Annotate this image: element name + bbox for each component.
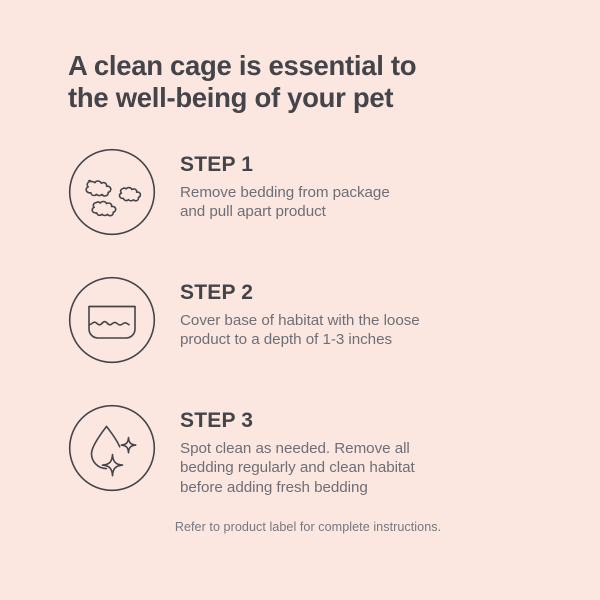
bedding-clouds-icon: [68, 148, 156, 236]
step-item-3: STEP 3 Spot clean as needed. Remove all …: [68, 404, 558, 497]
step-item-1: STEP 1 Remove bedding from package and p…: [68, 148, 558, 236]
step-title-3: STEP 3: [180, 410, 558, 432]
droplet-sparkle-icon: [68, 404, 156, 492]
instruction-poster: A clean cage is essential to the well-be…: [0, 0, 600, 600]
step-body-2: Cover base of habitat with the loose pro…: [180, 311, 558, 350]
habitat-tank-icon: [68, 276, 156, 364]
step-title-1: STEP 1: [180, 154, 558, 176]
step-text-2: STEP 2 Cover base of habitat with the lo…: [180, 276, 558, 350]
step-body-1: Remove bedding from package and pull apa…: [180, 183, 558, 222]
step-title-2: STEP 2: [180, 282, 558, 304]
step-item-2: STEP 2 Cover base of habitat with the lo…: [68, 276, 558, 364]
page-title: A clean cage is essential to the well-be…: [68, 50, 548, 114]
steps-list: STEP 1 Remove bedding from package and p…: [68, 148, 558, 537]
step-text-3: STEP 3 Spot clean as needed. Remove all …: [180, 404, 558, 497]
footnote-text: Refer to product label for complete inst…: [68, 520, 548, 534]
step-text-1: STEP 1 Remove bedding from package and p…: [180, 148, 558, 222]
step-body-3: Spot clean as needed. Remove all bedding…: [180, 439, 558, 497]
